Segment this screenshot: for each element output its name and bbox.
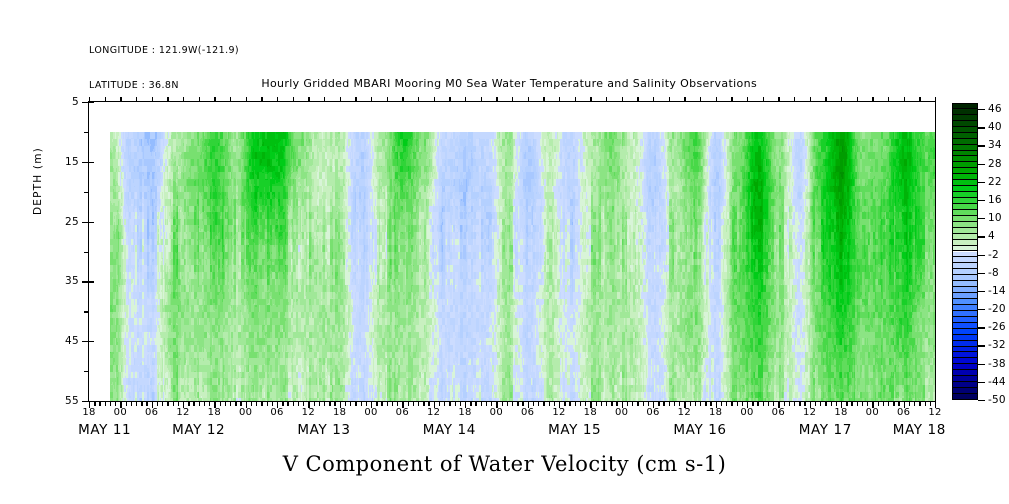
colorbar-cell (952, 174, 978, 180)
x-tick-top (434, 97, 435, 102)
x-hour-label: 18 (82, 407, 95, 418)
colorbar-label: 40 (988, 121, 1002, 133)
colorbar-label: -32 (988, 339, 1006, 351)
colorbar-label: -8 (988, 267, 999, 279)
colorbar-label: 4 (988, 230, 995, 242)
colorbar-label: -14 (988, 285, 1006, 297)
y-tick-inner (89, 222, 94, 223)
x-tick-minor (554, 401, 555, 406)
colorbar-cell (952, 311, 978, 317)
x-tick-minor (381, 401, 382, 406)
y-tick-inner (89, 341, 94, 342)
colorbar-cell (952, 370, 978, 376)
y-tick-minor (84, 192, 89, 193)
colorbar-cell (952, 133, 978, 139)
y-tick-major (82, 281, 89, 282)
x-tick-minor (334, 401, 335, 406)
colorbar-label: -20 (988, 303, 1006, 315)
x-hour-label: 12 (552, 407, 565, 418)
colorbar-cell (952, 228, 978, 234)
x-tick-minor (737, 401, 738, 406)
x-tick-minor (930, 401, 931, 406)
x-tick-minor (481, 401, 482, 406)
x-tick-minor (569, 401, 570, 406)
x-tick-minor (387, 401, 388, 406)
y-tick-inner (89, 102, 94, 103)
x-tick-minor (825, 401, 826, 406)
x-tick-minor (564, 401, 565, 406)
colorbar-cell (952, 151, 978, 157)
x-tick-top (731, 97, 732, 102)
colorbar-tick (978, 182, 985, 183)
x-hour-label: 12 (302, 407, 315, 418)
x-tick-minor (549, 401, 550, 406)
x-hour-label: 12 (928, 407, 941, 418)
colorbar-cell (952, 341, 978, 347)
x-tick-top (637, 97, 638, 102)
x-tick-top (622, 97, 623, 102)
colorbar-cell (952, 204, 978, 210)
y-tick-label: 35 (65, 275, 79, 287)
x-tick-minor (648, 401, 649, 406)
x-day-label: MAY 16 (673, 422, 726, 438)
x-tick-minor (763, 401, 764, 406)
x-tick-minor (742, 401, 743, 406)
colorbar-tick (978, 327, 985, 328)
x-tick-minor (512, 401, 513, 406)
x-tick-minor (700, 401, 701, 406)
colorbar-tick (978, 400, 985, 401)
colorbar-tick (978, 145, 985, 146)
x-tick-top (810, 97, 811, 102)
colorbar-cell (952, 257, 978, 263)
colorbar-cell (952, 198, 978, 204)
x-tick-minor (293, 401, 294, 406)
x-hour-label: 06 (772, 407, 785, 418)
x-tick-minor (585, 401, 586, 406)
x-tick-minor (674, 401, 675, 406)
longitude-text: LONGITUDE : 121.9W(-121.9) (89, 45, 239, 57)
colorbar-cell (952, 109, 978, 115)
x-tick-minor (538, 401, 539, 406)
colorbar-label: -38 (988, 358, 1006, 370)
x-tick-minor (731, 401, 732, 406)
x-tick-minor (804, 401, 805, 406)
colorbar-cell (952, 156, 978, 162)
colorbar-cell (952, 335, 978, 341)
y-tick-minor (84, 132, 89, 133)
x-tick-top (496, 97, 497, 102)
x-tick-top (778, 97, 779, 102)
x-tick-minor (230, 401, 231, 406)
x-hour-label: 00 (615, 407, 628, 418)
x-tick-minor (888, 401, 889, 406)
x-tick-minor (94, 401, 95, 406)
x-tick-top (465, 97, 466, 102)
y-tick-label: 25 (65, 216, 79, 228)
x-tick-minor (256, 401, 257, 406)
x-tick-top (825, 97, 826, 102)
x-tick-minor (616, 401, 617, 406)
x-tick-minor (836, 401, 837, 406)
x-tick-top (653, 97, 654, 102)
x-tick-top (340, 97, 341, 102)
x-tick-minor (925, 401, 926, 406)
x-hour-label: 00 (239, 407, 252, 418)
x-tick-top (199, 97, 200, 102)
x-tick-minor (643, 401, 644, 406)
x-tick-minor (815, 401, 816, 406)
colorbar-cell (952, 216, 978, 222)
x-tick-top (904, 97, 905, 102)
x-tick-minor (517, 401, 518, 406)
x-hour-label: 06 (145, 407, 158, 418)
colorbar-cell (952, 281, 978, 287)
x-tick-minor (428, 401, 429, 406)
colorbar-cell (952, 145, 978, 151)
x-tick-minor (726, 401, 727, 406)
colorbar-cell (952, 192, 978, 198)
x-tick-minor (475, 401, 476, 406)
x-hour-label: 12 (427, 407, 440, 418)
x-tick-minor (695, 401, 696, 406)
x-tick-top (89, 97, 90, 102)
x-tick-minor (851, 401, 852, 406)
x-tick-minor (768, 401, 769, 406)
x-tick-minor (126, 401, 127, 406)
colorbar-tick (978, 273, 985, 274)
x-tick-minor (789, 401, 790, 406)
x-tick-top (308, 97, 309, 102)
x-tick-top (105, 97, 106, 102)
x-tick-minor (470, 401, 471, 406)
x-tick-minor (721, 401, 722, 406)
x-tick-top (747, 97, 748, 102)
x-tick-top (481, 97, 482, 102)
x-tick-minor (449, 401, 450, 406)
x-tick-minor (298, 401, 299, 406)
x-tick-top (857, 97, 858, 102)
x-tick-minor (423, 401, 424, 406)
x-tick-minor (893, 401, 894, 406)
x-hour-label: 18 (208, 407, 221, 418)
x-tick-minor (408, 401, 409, 406)
x-tick-minor (272, 401, 273, 406)
x-tick-top (669, 97, 670, 102)
colorbar-cell (952, 121, 978, 127)
x-tick-minor (757, 401, 758, 406)
x-tick-top (543, 97, 544, 102)
colorbar-tick (978, 218, 985, 219)
colorbar-cell (952, 358, 978, 364)
colorbar-label: -50 (988, 394, 1006, 406)
x-tick-minor (225, 401, 226, 406)
colorbar-cell (952, 246, 978, 252)
x-tick-top (277, 97, 278, 102)
x-tick-minor (361, 401, 362, 406)
x-tick-top (402, 97, 403, 102)
colorbar-cell (952, 382, 978, 388)
x-hour-label: 00 (740, 407, 753, 418)
x-tick-minor (909, 401, 910, 406)
x-tick-minor (820, 401, 821, 406)
x-tick-minor (329, 401, 330, 406)
x-tick-top (919, 97, 920, 102)
colorbar-cell (952, 317, 978, 323)
x-tick-minor (173, 401, 174, 406)
x-hour-label: 06 (270, 407, 283, 418)
colorbar-cell (952, 240, 978, 246)
x-tick-minor (115, 401, 116, 406)
x-tick-top (528, 97, 529, 102)
x-tick-minor (606, 401, 607, 406)
x-tick-minor (867, 401, 868, 406)
colorbar-cell (952, 323, 978, 329)
x-tick-minor (627, 401, 628, 406)
colorbar-tick (978, 164, 985, 165)
x-tick-minor (199, 401, 200, 406)
x-hour-label: 18 (333, 407, 346, 418)
x-tick-minor (136, 401, 137, 406)
colorbar-label: -44 (988, 376, 1006, 388)
x-tick-minor (846, 401, 847, 406)
figure-root: LONGITUDE : 121.9W(-121.9) LATITUDE : 36… (0, 0, 1009, 504)
x-tick-top (167, 97, 168, 102)
x-tick-top (684, 97, 685, 102)
x-tick-minor (392, 401, 393, 406)
colorbar-cell (952, 293, 978, 299)
x-tick-top (841, 97, 842, 102)
x-tick-top (559, 97, 560, 102)
colorbar-tick (978, 255, 985, 256)
x-tick-minor (178, 401, 179, 406)
x-hour-label: 06 (521, 407, 534, 418)
x-tick-minor (261, 401, 262, 406)
x-tick-top (355, 97, 356, 102)
x-tick-minor (345, 401, 346, 406)
colorbar-cell (952, 329, 978, 335)
y-tick-major (82, 341, 89, 342)
x-day-label: MAY 11 (78, 422, 131, 438)
x-tick-minor (193, 401, 194, 406)
figure-caption: V Component of Water Velocity (cm s-1) (0, 452, 1009, 476)
x-tick-minor (507, 401, 508, 406)
x-tick-minor (366, 401, 367, 406)
y-tick-label: 55 (65, 395, 79, 407)
x-tick-minor (784, 401, 785, 406)
x-hour-label: 00 (490, 407, 503, 418)
x-tick-minor (99, 401, 100, 406)
x-hour-label: 12 (678, 407, 691, 418)
x-tick-minor (898, 401, 899, 406)
x-hour-label: 06 (396, 407, 409, 418)
x-tick-top (324, 97, 325, 102)
colorbar-cell (952, 263, 978, 269)
x-tick-minor (914, 401, 915, 406)
x-hour-label: 18 (709, 407, 722, 418)
x-tick-top (935, 97, 936, 102)
colorbar-tick (978, 127, 985, 128)
y-tick-major (82, 222, 89, 223)
x-tick-minor (162, 401, 163, 406)
x-tick-minor (679, 401, 680, 406)
x-hour-label: 18 (458, 407, 471, 418)
colorbar-label: 22 (988, 176, 1002, 188)
colorbar-cell (952, 180, 978, 186)
colorbar-label: 46 (988, 103, 1002, 115)
x-tick-minor (105, 401, 106, 406)
colorbar-cell (952, 376, 978, 382)
colorbar (952, 103, 978, 400)
x-day-label: MAY 17 (799, 422, 852, 438)
x-tick-minor (240, 401, 241, 406)
x-tick-minor (491, 401, 492, 406)
x-tick-top (214, 97, 215, 102)
colorbar-cell (952, 347, 978, 353)
x-tick-minor (204, 401, 205, 406)
contour-field (89, 102, 935, 401)
x-tick-top (763, 97, 764, 102)
colorbar-cell (952, 210, 978, 216)
x-tick-minor (167, 401, 168, 406)
x-tick-top (183, 97, 184, 102)
colorbar-cell (952, 186, 978, 192)
x-hour-label: 12 (176, 407, 189, 418)
y-tick-major (82, 162, 89, 163)
colorbar-cell (952, 103, 978, 109)
x-tick-minor (267, 401, 268, 406)
x-tick-top (293, 97, 294, 102)
x-tick-top (872, 97, 873, 102)
x-hour-label: 00 (364, 407, 377, 418)
colorbar-cell (952, 222, 978, 228)
y-tick-label: 15 (65, 156, 79, 168)
colorbar-tick (978, 382, 985, 383)
y-tick-minor (84, 252, 89, 253)
x-tick-top (261, 97, 262, 102)
x-tick-top (152, 97, 153, 102)
y-tick-minor (84, 371, 89, 372)
x-tick-minor (533, 401, 534, 406)
x-tick-minor (580, 401, 581, 406)
x-tick-minor (444, 401, 445, 406)
colorbar-cell (952, 139, 978, 145)
colorbar-cell (952, 394, 978, 400)
colorbar-tick (978, 364, 985, 365)
x-tick-minor (146, 401, 147, 406)
y-tick-label: 5 (72, 96, 79, 108)
x-tick-minor (324, 401, 325, 406)
colorbar-label: 10 (988, 212, 1002, 224)
x-tick-top (449, 97, 450, 102)
colorbar-cell (952, 305, 978, 311)
x-tick-minor (862, 401, 863, 406)
colorbar-tick (978, 200, 985, 201)
y-tick-inner (89, 281, 94, 282)
x-tick-top (716, 97, 717, 102)
x-tick-minor (710, 401, 711, 406)
x-tick-minor (663, 401, 664, 406)
colorbar-cell (952, 168, 978, 174)
x-tick-minor (878, 401, 879, 406)
x-tick-minor (355, 401, 356, 406)
colorbar-cell (952, 364, 978, 370)
x-tick-top (418, 97, 419, 102)
x-tick-minor (319, 401, 320, 406)
colorbar-tick (978, 291, 985, 292)
x-tick-minor (455, 401, 456, 406)
x-tick-top (590, 97, 591, 102)
x-tick-top (230, 97, 231, 102)
colorbar-tick (978, 109, 985, 110)
x-tick-minor (157, 401, 158, 406)
x-hour-label: 00 (866, 407, 879, 418)
colorbar-cell (952, 234, 978, 240)
x-tick-minor (439, 401, 440, 406)
x-tick-minor (418, 401, 419, 406)
x-tick-minor (705, 401, 706, 406)
x-tick-minor (611, 401, 612, 406)
x-day-label: MAY 13 (297, 422, 350, 438)
x-tick-minor (502, 401, 503, 406)
x-tick-top (246, 97, 247, 102)
x-tick-minor (632, 401, 633, 406)
x-hour-label: 06 (646, 407, 659, 418)
colorbar-label: 34 (988, 139, 1002, 151)
y-tick-label: 45 (65, 335, 79, 347)
x-tick-minor (303, 401, 304, 406)
y-tick-inner (89, 162, 94, 163)
x-tick-minor (919, 401, 920, 406)
x-hour-label: 06 (897, 407, 910, 418)
colorbar-tick (978, 236, 985, 237)
colorbar-tick (978, 309, 985, 310)
x-hour-label: 12 (803, 407, 816, 418)
x-tick-minor (601, 401, 602, 406)
colorbar-label: -2 (988, 249, 999, 261)
x-tick-minor (883, 401, 884, 406)
x-tick-top (575, 97, 576, 102)
y-tick-minor (84, 311, 89, 312)
x-tick-minor (287, 401, 288, 406)
x-tick-top (700, 97, 701, 102)
x-tick-minor (799, 401, 800, 406)
colorbar-cell (952, 299, 978, 305)
x-tick-minor (543, 401, 544, 406)
x-tick-top (120, 97, 121, 102)
x-tick-minor (486, 401, 487, 406)
x-tick-minor (209, 401, 210, 406)
x-tick-minor (220, 401, 221, 406)
x-tick-minor (658, 401, 659, 406)
colorbar-cell (952, 127, 978, 133)
x-tick-top (888, 97, 889, 102)
x-hour-label: 18 (584, 407, 597, 418)
x-tick-minor (831, 401, 832, 406)
colorbar-tick (978, 345, 985, 346)
x-tick-minor (596, 401, 597, 406)
x-tick-minor (794, 401, 795, 406)
x-tick-minor (235, 401, 236, 406)
x-tick-minor (251, 401, 252, 406)
colorbar-cell (952, 388, 978, 394)
x-tick-minor (110, 401, 111, 406)
x-tick-minor (397, 401, 398, 406)
x-tick-minor (188, 401, 189, 406)
colorbar-label: -26 (988, 321, 1006, 333)
colorbar-cell (952, 269, 978, 275)
colorbar-cell (952, 352, 978, 358)
